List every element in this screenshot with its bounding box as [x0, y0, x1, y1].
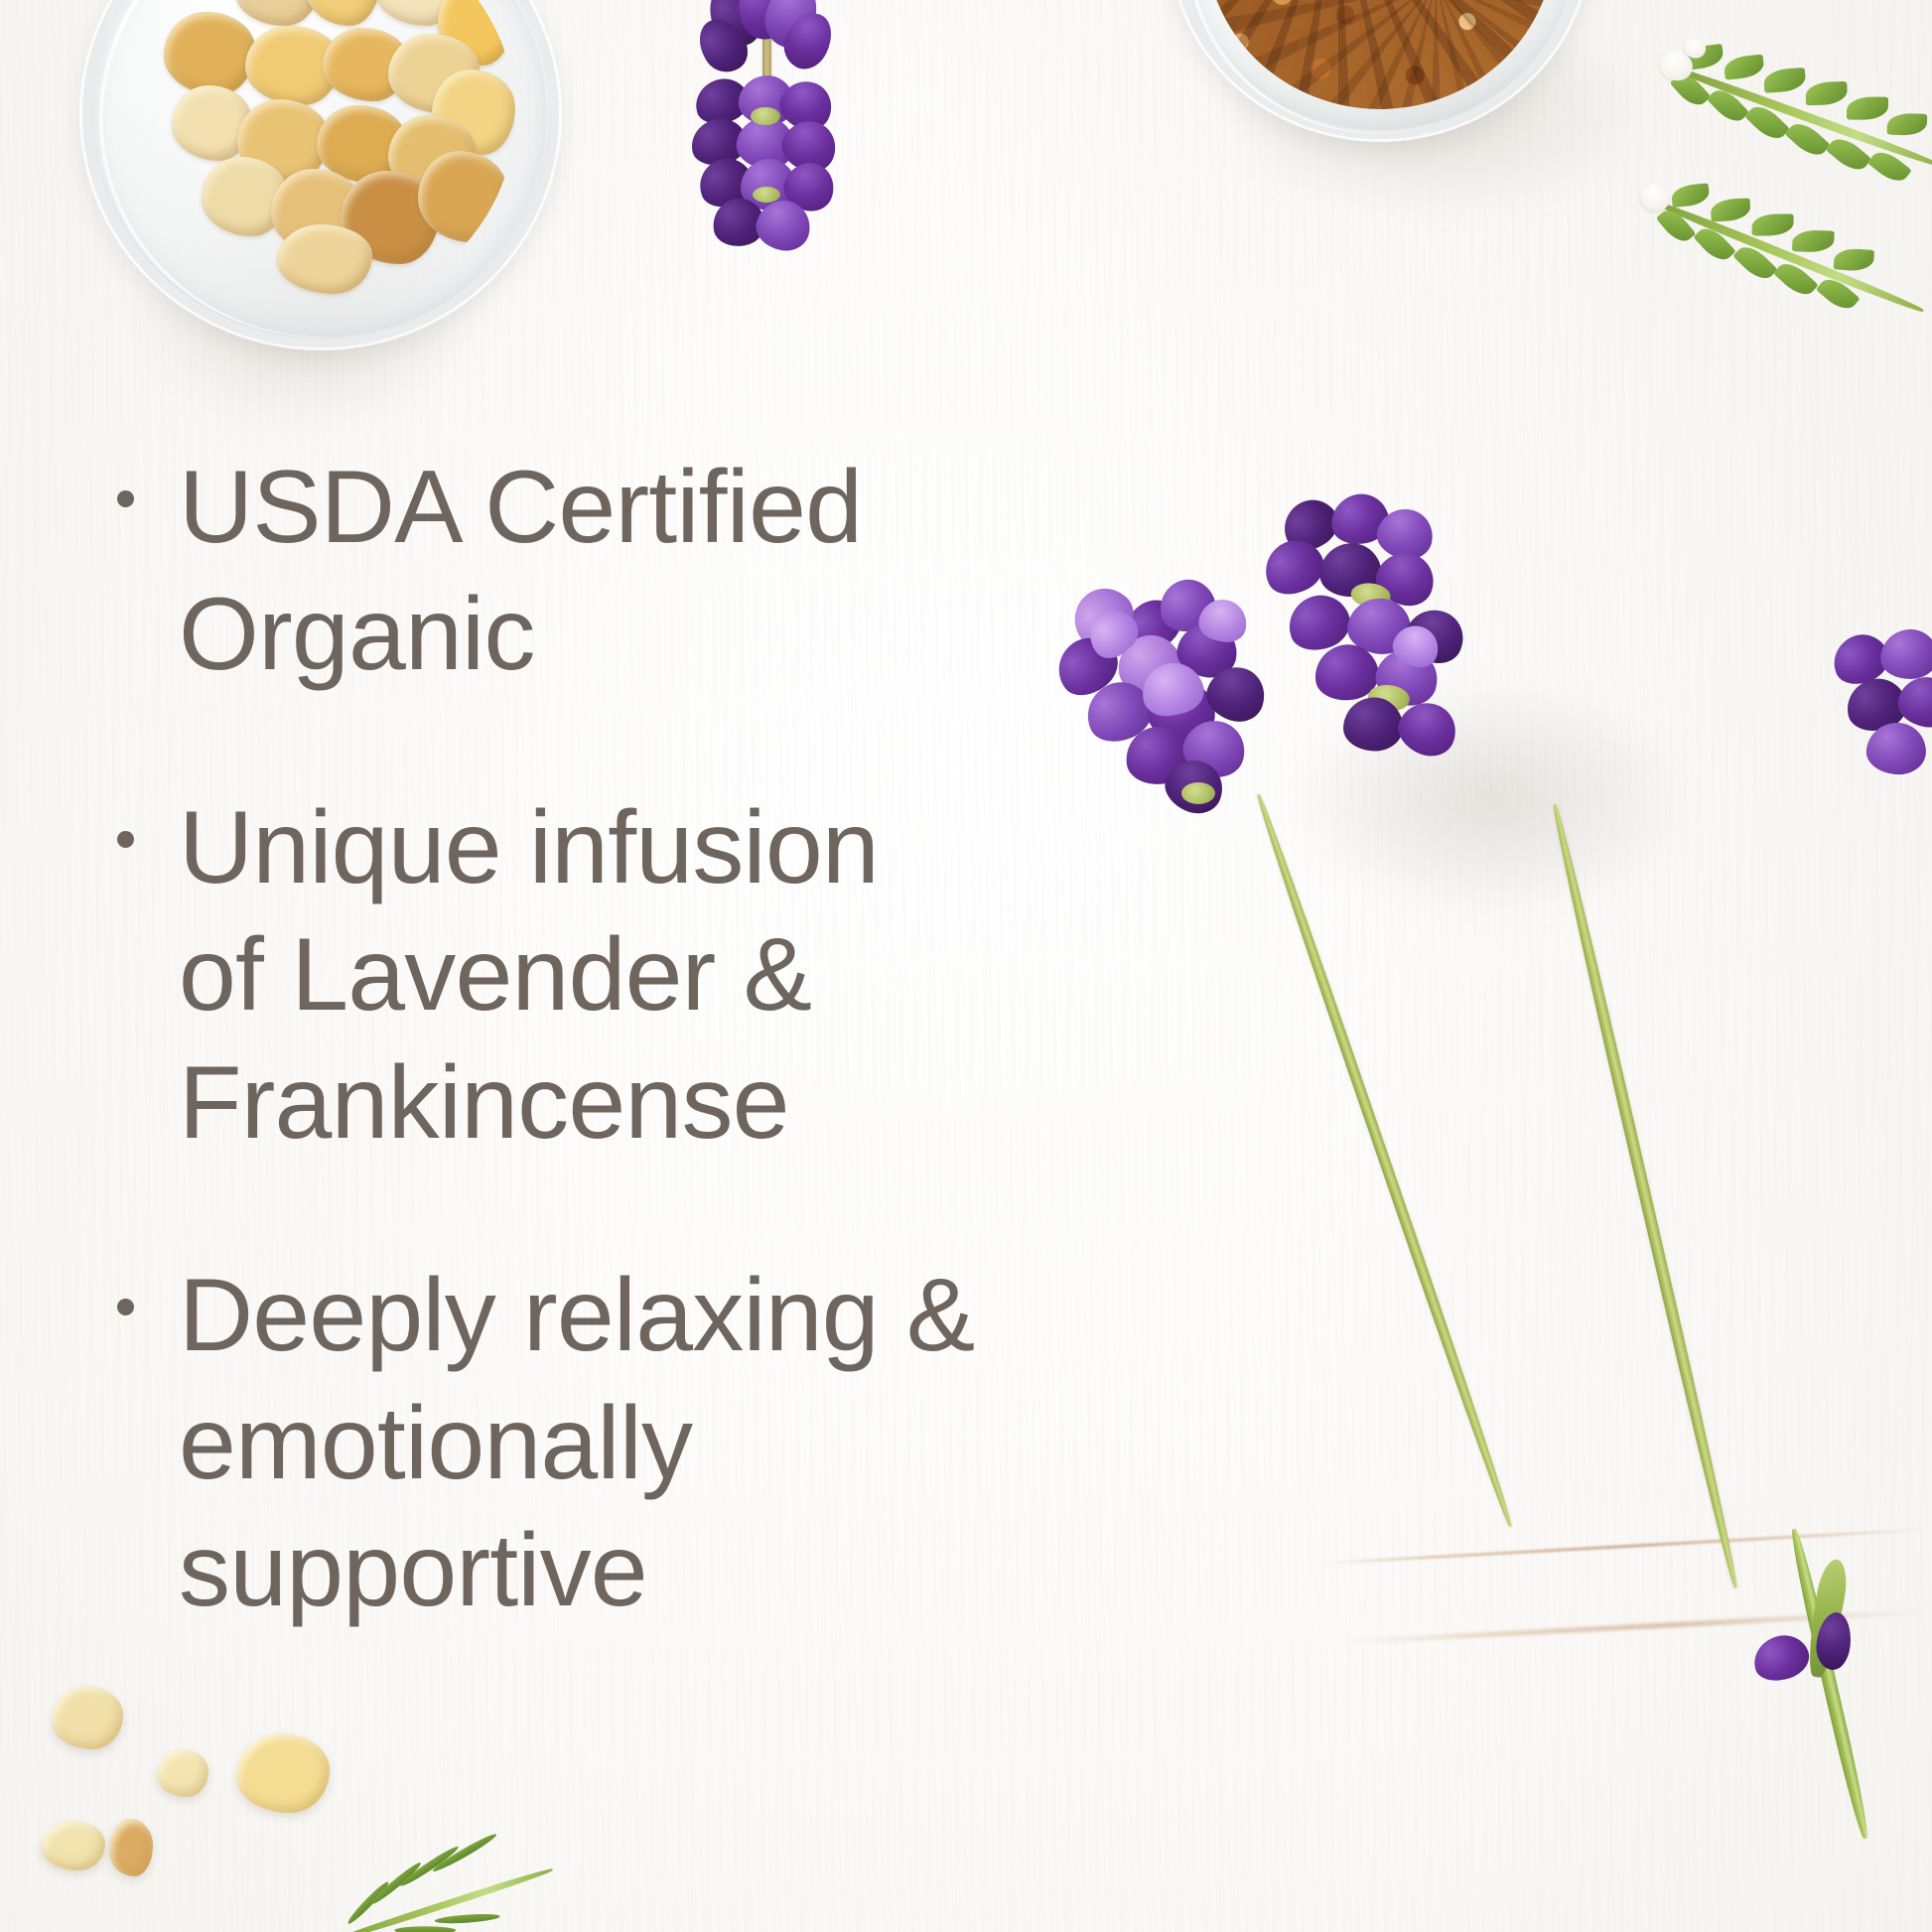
- bullet-dot-icon: [117, 490, 134, 507]
- dried-lavender-spike: [655, 0, 884, 288]
- fresh-lavender-bloom-edge: [1827, 625, 1932, 814]
- resin-chunk: [305, 0, 380, 26]
- bullet-dot-icon: [117, 1299, 134, 1315]
- feature-bullet-relaxing-supportive: Deeply relaxing & emotionally supportive: [117, 1252, 1269, 1634]
- resin-piece: [236, 1733, 330, 1813]
- lavender-floret: [1343, 697, 1403, 751]
- feature-bullet-text: USDA Certified Organic: [179, 444, 1269, 699]
- sprig-leaf: [1847, 97, 1888, 120]
- feature-bullet-usda-organic: USDA Certified Organic: [117, 444, 1269, 699]
- resin-piece: [52, 1686, 123, 1749]
- sprig-leaf: [1671, 183, 1711, 207]
- sprig-leaf: [1724, 55, 1765, 80]
- resin-chunk: [277, 224, 372, 294]
- sprig-leaf: [1792, 229, 1835, 252]
- lavender-tip-bud: [1748, 1628, 1815, 1687]
- feature-bullet-text: Unique infusion of Lavender & Frankincen…: [179, 784, 1269, 1167]
- lavender-bud-tip: [1678, 1529, 1932, 1866]
- scattered-resin-group: [0, 1638, 397, 1932]
- resin-piece: [109, 1819, 153, 1876]
- dried-lavender-calyx: [751, 107, 780, 125]
- sprig-leaf: [1834, 247, 1874, 272]
- rosemary-needle: [394, 1926, 456, 1932]
- sprig-leaf: [1763, 68, 1807, 93]
- lavender-floret: [1878, 627, 1932, 681]
- resin-chunk: [164, 12, 255, 95]
- resin-piece: [157, 1749, 208, 1797]
- rosemary-needle: [434, 1912, 499, 1925]
- rosemary-needle: [345, 1879, 391, 1926]
- sprig-leaf: [1805, 81, 1848, 105]
- feature-bullet-text: Deeply relaxing & emotionally supportive: [179, 1252, 1269, 1634]
- feature-bullet-unique-infusion: Unique infusion of Lavender & Frankincen…: [117, 784, 1269, 1167]
- sprig-leaf: [1711, 198, 1751, 221]
- fresh-lavender-bloom-right: [1225, 480, 1595, 841]
- dried-lavender-calyx: [753, 187, 780, 203]
- sprig-leaf: [1752, 213, 1794, 235]
- feature-bullet-list: USDA Certified Organic Unique infusion o…: [117, 444, 1269, 1635]
- product-feature-image: USDA Certified Organic Unique infusion o…: [0, 0, 1932, 1932]
- bullet-dot-icon: [117, 831, 134, 848]
- sprig-leaf: [1887, 113, 1928, 136]
- resin-piece: [42, 1821, 105, 1870]
- resin-chunk: [235, 0, 319, 26]
